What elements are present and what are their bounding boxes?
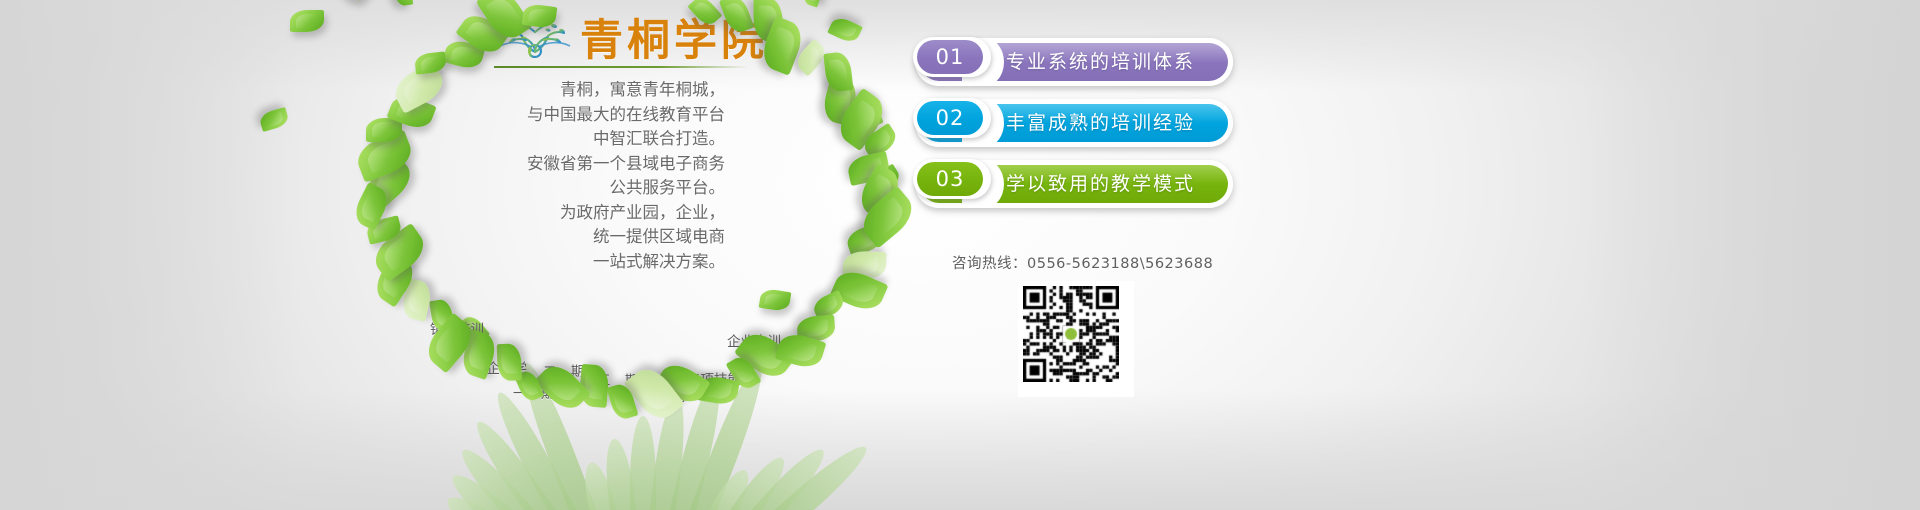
feature-pill-01[interactable]: 专业系统的培训体系01 — [915, 38, 1233, 86]
description-line: 统一提供区域电商 — [455, 225, 725, 250]
background-vignette-right — [1580, 0, 1920, 510]
description-line: 与中国最大的在线教育平台 — [455, 103, 725, 128]
leaf-shape — [258, 106, 290, 131]
feature-pill-02[interactable]: 丰富成熟的培训经验02 — [915, 99, 1233, 147]
description-line: 安徽省第一个县域电子商务 — [455, 152, 725, 177]
description-line: 公共服务平台。 — [455, 176, 725, 201]
background-vignette-left — [0, 0, 300, 510]
feature-list: 专业系统的培训体系01丰富成熟的培训经验02学以致用的教学模式03 — [915, 38, 1245, 221]
description-line: 一站式解决方案。 — [455, 250, 725, 275]
promo-banner: 青桐学院 青桐，寓意青年桐城，与中国最大的在线教育平台中智汇联合打造。安徽省第一… — [0, 0, 1920, 510]
leaf-shape — [393, 0, 414, 7]
background-vignette-bottom — [0, 390, 1920, 510]
leaf-shape — [337, 0, 373, 5]
feature-pill-03[interactable]: 学以致用的教学模式03 — [915, 160, 1233, 208]
feature-number-ring: 03 — [913, 159, 991, 199]
feature-number-ring: 02 — [913, 98, 991, 138]
feature-number: 02 — [917, 101, 983, 135]
feature-number: 03 — [917, 162, 983, 196]
brand-description: 青桐，寓意青年桐城，与中国最大的在线教育平台中智汇联合打造。安徽省第一个县域电子… — [455, 78, 725, 274]
hotline-text: 咨询热线：0556-5623188\5623688 — [952, 252, 1213, 273]
feature-pill-label: 学以致用的教学模式 — [1006, 165, 1195, 203]
leaf-shape — [290, 10, 324, 32]
feature-number: 01 — [917, 40, 983, 74]
qr-code — [1018, 281, 1134, 397]
leaf-shape — [414, 51, 447, 75]
leaf-shape — [827, 15, 863, 46]
feature-pill-label: 专业系统的培训体系 — [1006, 43, 1195, 81]
description-line: 青桐，寓意青年桐城， — [455, 78, 725, 103]
description-line: 为政府产业园，企业， — [455, 201, 725, 226]
brand-underline — [494, 66, 748, 68]
leaf-shape — [801, 0, 825, 8]
leaf-shape — [759, 288, 792, 312]
feature-pill-label: 丰富成熟的培训经验 — [1006, 104, 1195, 142]
description-line: 中智汇联合打造。 — [455, 127, 725, 152]
feature-number-ring: 01 — [913, 37, 991, 77]
